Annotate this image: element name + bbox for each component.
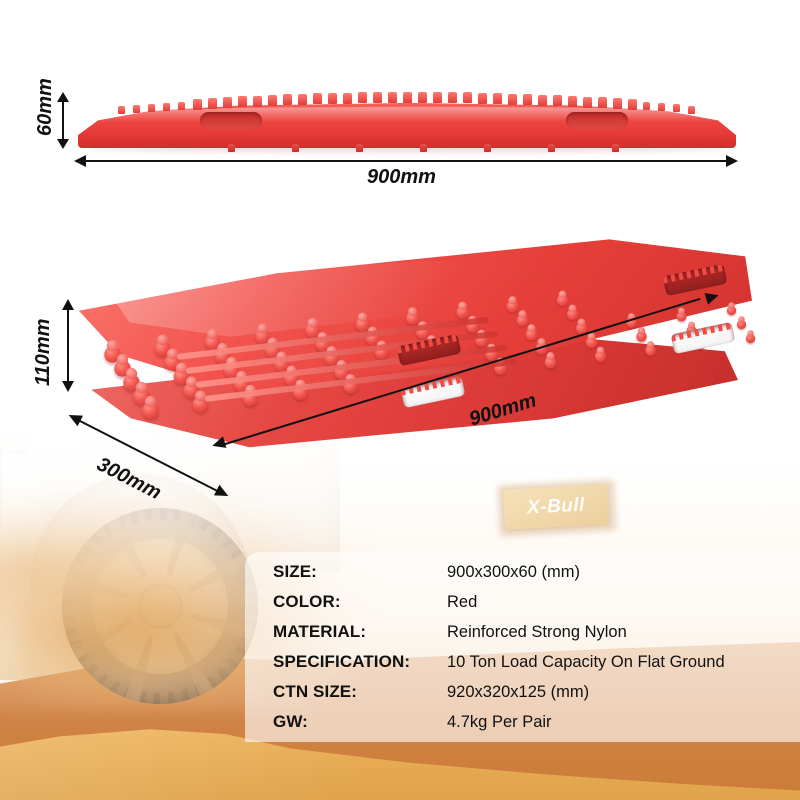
tread-stud: [688, 106, 695, 114]
board-side-profile: [78, 84, 736, 156]
tread-nub: [406, 312, 419, 325]
tread-stud: [463, 92, 472, 103]
tread-stud: [583, 97, 592, 108]
tread-stud: [523, 94, 532, 105]
spec-value: Reinforced Strong Nylon: [447, 623, 627, 642]
dim-arrowhead-110mm-bottom: [62, 381, 74, 392]
dim-arrowhead-900mm-left: [74, 155, 86, 167]
spec-label: COLOR:: [273, 592, 447, 612]
spec-row: SIZE:900x300x60 (mm): [273, 562, 800, 592]
tread-stud: [628, 99, 637, 110]
spec-row: GW:4.7kg Per Pair: [273, 712, 800, 742]
side-slot-right: [566, 112, 628, 129]
tread-nub: [727, 306, 736, 315]
spec-table: SIZE:900x300x60 (mm)COLOR:RedMATERIAL:Re…: [273, 562, 800, 742]
tread-stud: [598, 97, 607, 108]
dim-arrowhead-900mm-right: [726, 155, 738, 167]
tread-nub: [526, 329, 538, 341]
tread-nub: [516, 315, 528, 327]
spec-label: MATERIAL:: [273, 622, 447, 642]
tread-stud: [538, 95, 547, 106]
bottom-stud: [420, 144, 427, 152]
tread-stud: [418, 92, 427, 103]
bottom-stud: [612, 144, 619, 152]
tread-stud: [148, 104, 155, 112]
tread-nub: [676, 311, 686, 321]
tread-stud: [208, 98, 217, 109]
tread-stud: [673, 104, 680, 112]
dim-line-110mm: [67, 308, 69, 384]
bottom-stud: [356, 144, 363, 152]
tread-stud: [403, 92, 412, 103]
tread-stud: [178, 102, 185, 110]
tread-stud: [508, 94, 517, 105]
tread-nub: [746, 334, 755, 343]
tread-stud: [568, 96, 577, 107]
tread-stud: [373, 92, 382, 103]
tread-stud: [493, 93, 502, 104]
tread-stud: [658, 103, 665, 111]
tread-stud: [163, 103, 170, 111]
spec-value: 4.7kg Per Pair: [447, 713, 552, 732]
dim-label-60mm: 60mm: [34, 78, 57, 136]
tread-stud: [643, 102, 650, 110]
tread-stud: [448, 92, 457, 103]
tread-stud: [238, 96, 247, 107]
tread-nub: [557, 295, 568, 306]
bottom-stud: [228, 144, 235, 152]
spec-row: CTN SIZE:920x320x125 (mm): [273, 682, 800, 712]
spec-label: GW:: [273, 712, 447, 732]
spec-value: 900x300x60 (mm): [447, 563, 580, 582]
spec-label: SPECIFICATION:: [273, 652, 447, 672]
spec-label: SIZE:: [273, 562, 447, 582]
tread-stud: [328, 93, 337, 104]
tread-nub: [507, 301, 519, 313]
spec-row: SPECIFICATION:10 Ton Load Capacity On Fl…: [273, 652, 800, 682]
dim-arrowhead-110mm-top: [62, 299, 74, 310]
spec-panel: SIZE:900x300x60 (mm)COLOR:RedMATERIAL:Re…: [245, 552, 800, 742]
dim-label-900mm-top: 900mm: [367, 166, 436, 189]
dim-line-60mm: [62, 100, 64, 142]
tread-stud: [283, 94, 292, 105]
tread-nub: [456, 306, 468, 318]
tread-nub: [736, 320, 745, 329]
spec-row: COLOR:Red: [273, 592, 800, 622]
tread-stud: [388, 92, 397, 103]
dim-label-110mm: 110mm: [32, 319, 55, 386]
tread-nub: [645, 345, 656, 356]
bottom-stud: [292, 144, 299, 152]
side-slot-left: [200, 112, 262, 129]
spec-value: Red: [447, 593, 477, 612]
product-spec-image: X-Bull 60mm 900mm 110mm: [0, 0, 800, 800]
board-isometric-pair: [72, 236, 762, 456]
dim-arrowhead-60mm-top: [57, 92, 69, 102]
tread-stud: [478, 93, 487, 104]
tread-stud: [268, 95, 277, 106]
tread-stud: [313, 93, 322, 104]
bottom-stud: [548, 144, 555, 152]
tread-stud: [553, 95, 562, 106]
tread-stud: [343, 93, 352, 104]
xbull-logo: X-Bull: [503, 484, 609, 529]
dim-arrowhead-60mm-bottom: [57, 139, 69, 149]
board-stud-field: [72, 236, 752, 406]
dim-line-900mm-top: [84, 160, 728, 162]
spec-label: CTN SIZE:: [273, 682, 447, 702]
tread-stud: [613, 98, 622, 109]
tread-stud: [133, 105, 140, 113]
spec-value: 10 Ton Load Capacity On Flat Ground: [447, 653, 725, 672]
tread-nub: [545, 357, 557, 369]
tread-stud: [433, 92, 442, 103]
tread-stud: [223, 97, 232, 108]
tread-nub: [595, 351, 606, 362]
xbull-logo-text: X-Bull: [527, 495, 586, 520]
tread-nub: [142, 402, 159, 419]
tread-stud: [118, 106, 125, 114]
spec-row: MATERIAL:Reinforced Strong Nylon: [273, 622, 800, 652]
side-stud-row: [78, 84, 736, 110]
tread-stud: [298, 94, 307, 105]
tread-stud: [193, 99, 202, 110]
tread-nub: [636, 331, 647, 342]
tread-stud: [253, 96, 262, 107]
bottom-stud: [484, 144, 491, 152]
tread-nub: [585, 337, 596, 348]
tread-stud: [358, 92, 367, 103]
tread-nub: [566, 309, 577, 320]
spec-value: 920x320x125 (mm): [447, 683, 589, 702]
